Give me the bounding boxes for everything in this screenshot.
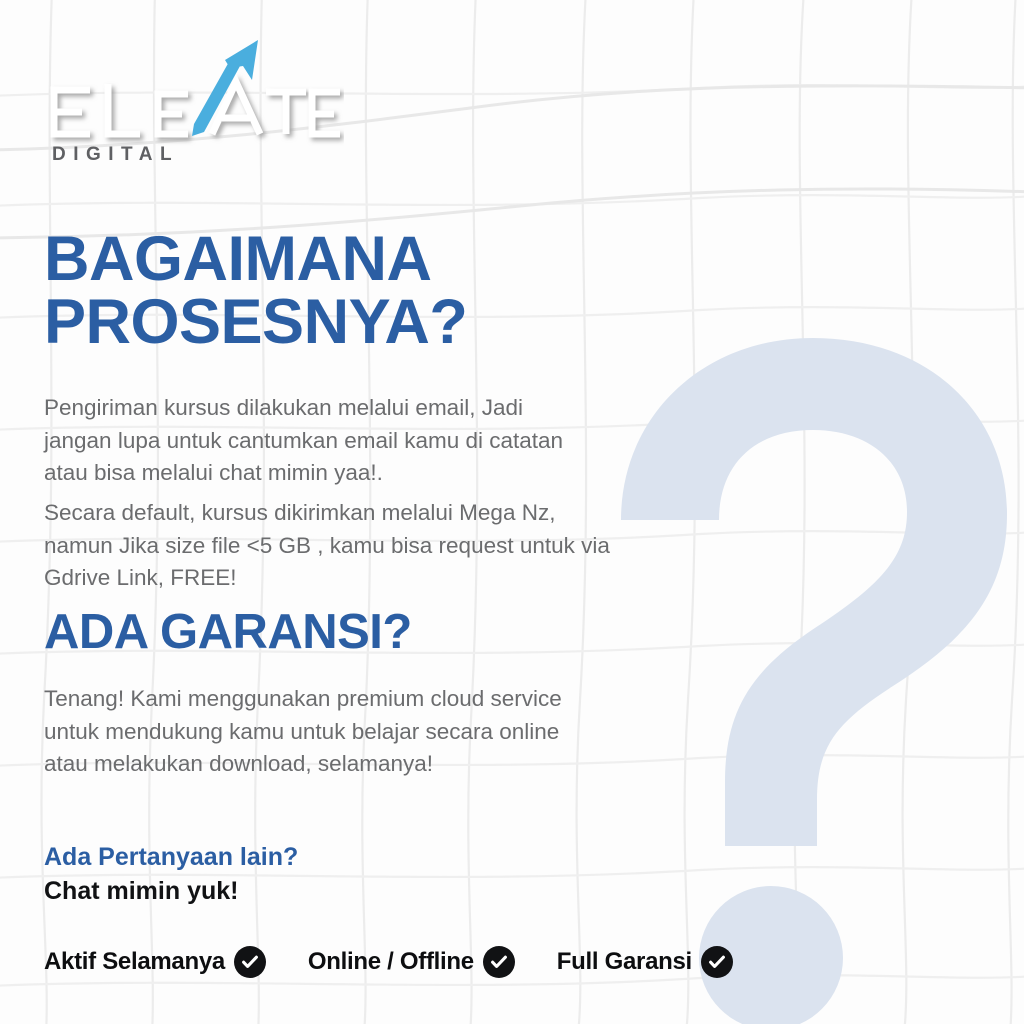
badge-full-garansi: Full Garansi <box>557 946 733 978</box>
check-circle-icon <box>234 946 266 978</box>
paragraph-tenang-kami: Tenang! Kami menggunakan premium cloud s… <box>44 683 564 781</box>
cta-action-text[interactable]: Chat mimin yuk! <box>44 877 238 906</box>
check-circle-icon <box>483 946 515 978</box>
footer-badge-bar: Aktif Selamanya Online / Offline Full Ga… <box>44 946 984 978</box>
poster-content: DIGITAL BAGAIMANA PROSESNYA? Pengiriman … <box>0 0 1024 1024</box>
paragraph-secara-default: Secara default, kursus dikirimkan melalu… <box>44 497 614 595</box>
cta-question-text: Ada Pertanyaan lain? <box>44 843 298 872</box>
badge-aktif-selamanya: Aktif Selamanya <box>44 946 266 978</box>
badge-label: Aktif Selamanya <box>44 948 225 976</box>
heading-bagaimana-prosesnya: BAGAIMANA PROSESNYA? <box>44 228 664 354</box>
elevate-arrow-logo-icon <box>44 38 344 146</box>
brand-logo: DIGITAL <box>44 38 464 166</box>
poster-canvas: DIGITAL BAGAIMANA PROSESNYA? Pengiriman … <box>0 0 1024 1024</box>
heading-ada-garansi: ADA GARANSI? <box>44 608 664 657</box>
badge-online-offline: Online / Offline <box>308 946 515 978</box>
brand-subtitle: DIGITAL <box>52 144 464 166</box>
check-circle-icon <box>701 946 733 978</box>
badge-label: Online / Offline <box>308 948 474 976</box>
badge-label: Full Garansi <box>557 948 692 976</box>
paragraph-pengiriman-kursus: Pengiriman kursus dilakukan melalui emai… <box>44 392 584 490</box>
